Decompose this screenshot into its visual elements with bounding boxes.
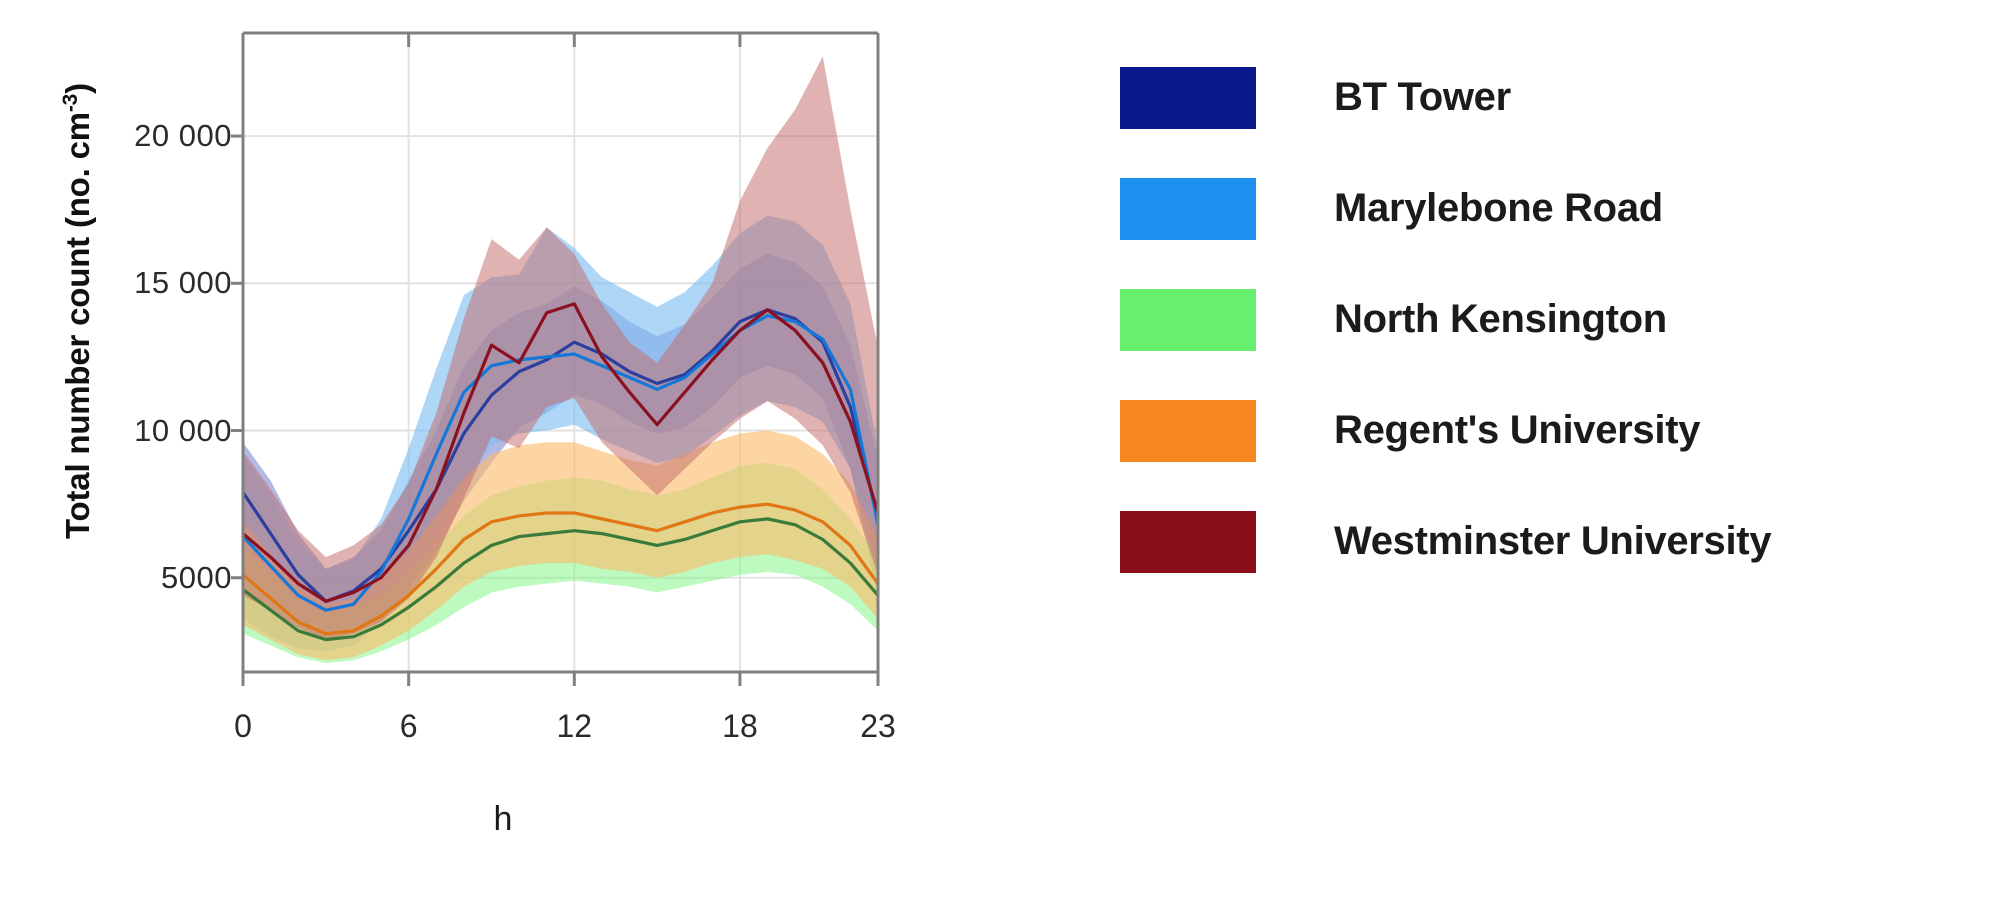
legend-item[interactable]: BT Tower: [1120, 42, 1990, 153]
legend-item[interactable]: Regent's University: [1120, 375, 1990, 486]
legend-color-swatch: [1120, 400, 1256, 462]
legend-color-swatch: [1120, 511, 1256, 573]
x-tick-label: 12: [529, 708, 619, 745]
legend-item-label: Regent's University: [1334, 408, 1700, 453]
legend-item-label: Westminster University: [1334, 519, 1771, 564]
legend-item[interactable]: North Kensington: [1120, 264, 1990, 375]
legend-item[interactable]: Westminster University: [1120, 486, 1990, 597]
legend-color-swatch: [1120, 289, 1256, 351]
legend-item-label: North Kensington: [1334, 297, 1667, 342]
x-axis-title: h: [243, 800, 763, 839]
x-tick-label: 0: [198, 708, 288, 745]
x-tick-label: 6: [364, 708, 454, 745]
legend-item-label: Marylebone Road: [1334, 186, 1663, 231]
plot-area: [0, 0, 900, 898]
legend-color-swatch: [1120, 178, 1256, 240]
chart-legend: BT TowerMarylebone RoadNorth KensingtonR…: [1120, 42, 1990, 597]
x-tick-label: 23: [833, 708, 923, 745]
uncertainty-bands: [243, 57, 878, 664]
legend-item-label: BT Tower: [1334, 75, 1511, 120]
legend-color-swatch: [1120, 67, 1256, 129]
x-tick-label: 18: [695, 708, 785, 745]
chart-page: Total number count (no. cm-3) 500010 000…: [0, 0, 2004, 898]
legend-item[interactable]: Marylebone Road: [1120, 153, 1990, 264]
chart-figure: Total number count (no. cm-3) 500010 000…: [0, 0, 900, 898]
